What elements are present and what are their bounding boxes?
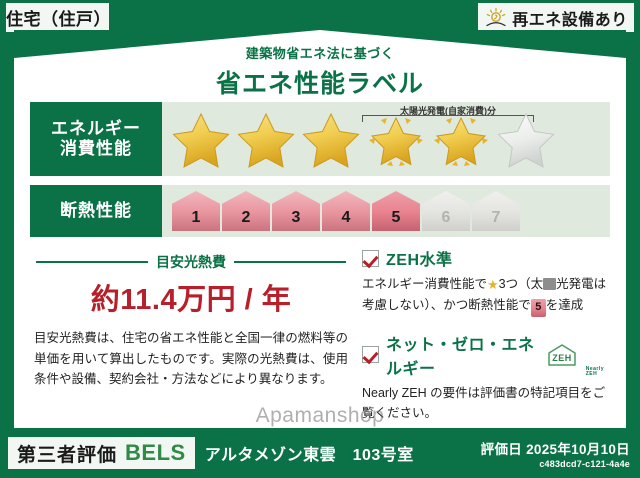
footer: 第三者評価 BELS アルタメゾン東雲 103号室 評価日 2025年10月10…: [0, 428, 640, 478]
page-title: 建築物省エネ法に基づく 省エネ性能ラベル: [14, 43, 626, 100]
redaction-block: [543, 278, 556, 290]
zeh-text-part1: エネルギー消費性能で: [362, 277, 487, 291]
insulation-level-badge: 5: [531, 299, 546, 317]
insulation-level-3: 3: [272, 191, 320, 231]
category-chip-label: 住宅（住戸）: [6, 5, 109, 30]
heading-rule-right: [234, 261, 346, 263]
building-name: アルタメゾン東雲 103号室: [205, 441, 414, 465]
energy-label-line1: エネルギー: [51, 119, 141, 139]
star-icon: [300, 109, 362, 169]
insulation-level-6: 6: [422, 191, 470, 231]
zeh-standard-block: ZEH水準 エネルギー消費性能で★3つ（太光発電は考慮しない）、かつ断熱性能で5…: [362, 246, 610, 317]
star-rating: [162, 109, 557, 169]
insulation-performance-label: 断熱性能: [30, 185, 162, 237]
energy-performance-label: エネルギー 消費性能: [30, 102, 162, 176]
star-icon: [170, 109, 232, 169]
insulation-label-text: 断熱性能: [60, 201, 132, 221]
star-4-solar: [365, 109, 427, 169]
utility-cost-note: 目安光熱費は、住宅の省エネ性能と全国一律の燃料等の単価を用いて算出したものです。…: [30, 328, 352, 390]
insulation-level-4: 4: [322, 191, 370, 231]
zeh-standard-text: エネルギー消費性能で★3つ（太光発電は考慮しない）、かつ断熱性能で5を達成: [362, 274, 610, 317]
renewable-chip-label: 再エネ設備あり: [512, 6, 628, 30]
energy-performance-label: 住宅（住戸） 再エネ設備あり 建築物省エネ法に基づく 省エネ性能ラベル: [0, 0, 640, 478]
energy-performance-row: エネルギー 消費性能 太陽光発電(自家消費)分: [30, 102, 610, 176]
zeh-column: ZEH水準 エネルギー消費性能で★3つ（太光発電は考慮しない）、かつ断熱性能で5…: [352, 246, 610, 418]
third-party-evaluation-label: 第三者評価: [17, 440, 117, 467]
heading-rule-left: [36, 261, 148, 263]
star-3: [300, 109, 362, 169]
evaluation-id: c483dcd7-c121-4a4e: [481, 459, 630, 469]
evaluation-date: 評価日 2025年10月10日: [481, 438, 630, 458]
net-zero-text: Nearly ZEH の要件は評価書の特記項目をご覧ください。: [362, 383, 610, 424]
utility-cost-heading-text: 目安光熱費: [156, 252, 226, 272]
sun-icon: [484, 7, 508, 29]
details-section: 目安光熱費 約11.4万円 / 年 目安光熱費は、住宅の省エネ性能と全国一律の燃…: [30, 246, 610, 418]
evaluation-info: 評価日 2025年10月10日 c483dcd7-c121-4a4e: [481, 438, 630, 469]
energy-label-line2: 消費性能: [60, 139, 132, 159]
insulation-performance-row: 断熱性能 1 2 3 4 5 6 7: [30, 185, 610, 237]
renewable-equipment-chip: 再エネ設備あり: [478, 3, 634, 32]
insulation-level-7: 7: [472, 191, 520, 231]
star-sparkle-icon: [365, 109, 427, 169]
title-main: 省エネ性能ラベル: [14, 64, 626, 100]
zeh-standard-title: ZEH水準: [386, 246, 453, 270]
label-card: 建築物省エネ法に基づく 省エネ性能ラベル エネルギー 消費性能 太陽光発電(自家…: [14, 30, 626, 428]
star-icon: ★: [487, 277, 499, 292]
utility-cost-value: 約11.4万円 / 年: [30, 276, 352, 318]
insulation-level-1: 1: [172, 191, 220, 231]
insulation-level-5: 5: [372, 191, 420, 231]
zeh-text-part2: 3つ（太: [499, 277, 543, 291]
svg-text:ZEH: ZEH: [552, 353, 572, 363]
net-zero-heading: ネット・ゼロ・エネルギー ZEH Nearly ZEH: [362, 331, 610, 379]
utility-cost-heading: 目安光熱費: [30, 246, 352, 272]
net-zero-checkbox[interactable]: [362, 346, 379, 363]
star-1: [170, 109, 232, 169]
bels-mark: BELS: [125, 440, 186, 466]
energy-rating-panel: 太陽光発電(自家消費)分: [162, 102, 610, 176]
star-sparkle-icon: [430, 109, 492, 169]
zeh-text-part4: を達成: [546, 298, 584, 312]
zeh-standard-checkbox[interactable]: [362, 250, 379, 267]
category-chip: 住宅（住戸）: [6, 3, 109, 32]
star-6-empty: [495, 109, 557, 169]
title-subtitle: 建築物省エネ法に基づく: [14, 43, 626, 62]
net-zero-energy-block: ネット・ゼロ・エネルギー ZEH Nearly ZEH Nearly ZEH の…: [362, 331, 610, 424]
zeh-house-icon: ZEH: [545, 343, 579, 367]
insulation-scale: 1 2 3 4 5 6 7: [162, 191, 520, 231]
insulation-rating-panel: 1 2 3 4 5 6 7: [162, 185, 610, 237]
utility-cost-column: 目安光熱費 約11.4万円 / 年 目安光熱費は、住宅の省エネ性能と全国一律の燃…: [30, 246, 352, 418]
bels-chip: 第三者評価 BELS: [8, 437, 195, 469]
star-icon: [235, 109, 297, 169]
star-outline-icon: [495, 109, 557, 169]
zeh-standard-heading: ZEH水準: [362, 246, 610, 270]
star-2: [235, 109, 297, 169]
insulation-level-2: 2: [222, 191, 270, 231]
star-5-solar: [430, 109, 492, 169]
net-zero-title: ネット・ゼロ・エネルギー: [386, 331, 538, 379]
zeh-icon-subtext: Nearly ZEH: [586, 367, 610, 379]
